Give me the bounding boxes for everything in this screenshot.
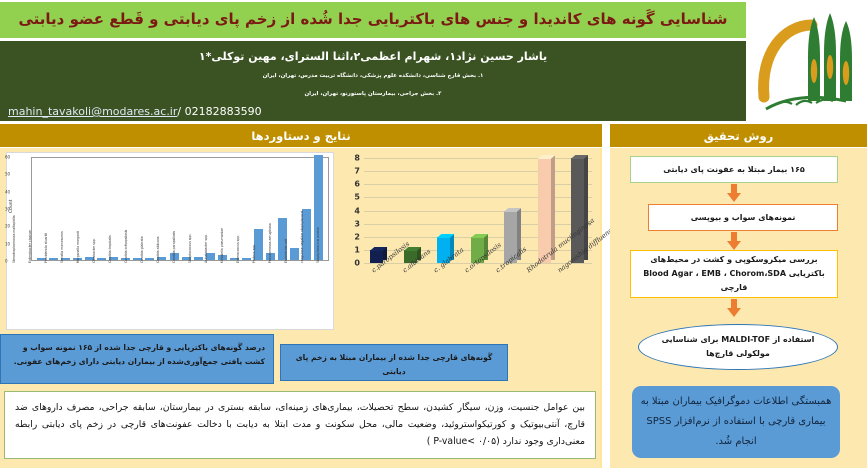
chart1-x-tick-labels: Staphylococcus aureuscoagulase negative …	[31, 263, 329, 329]
chart2-y-tick: 3	[354, 219, 360, 228]
flow-step-patients: ۱۶۵ بیمار مبتلا به عفونت پای دیابتی	[630, 156, 838, 183]
flow-step-culture: بررسی میکروسکوپی و کشت در محیط‌های باکتر…	[630, 250, 838, 298]
flow-arrow-down-2	[726, 232, 742, 250]
phone-number: / 02182883590	[177, 105, 261, 118]
affiliation-1: ۱. بخش قارچ شناسی، دانشکده علوم پزشکی، د…	[6, 73, 740, 79]
method-panel: ۱۶۵ بیمار مبتلا به عفونت پای دیابتی نمون…	[610, 148, 867, 468]
flow-step-samples: نمونه‌های سواب و بیوپسی	[648, 204, 838, 231]
author-band: یاشار حسین نژاد۱، شهرام اعظمی۲،اثنا الست…	[0, 41, 746, 121]
university-logo	[747, 2, 865, 120]
tarbiat-modares-logo-icon	[750, 5, 862, 117]
chart2-y-tick: 8	[354, 154, 360, 163]
chart2-x-tick-labels: c.paropsilosisc.albicansc. glabratac.ort…	[364, 266, 600, 334]
contact-line: mahin_tavakoli@modares.ac.ir/ 0218288359…	[8, 105, 262, 118]
chart2-y-tick: 1	[354, 245, 360, 254]
chart1-x-label: Naganishia diffluens	[0, 254, 15, 263]
chart2-y-tick: 5	[354, 193, 360, 202]
chart2-y-tick: 0	[354, 259, 360, 268]
poster-root: شناسایی گَونه های کاندیدا و جنس های باکت…	[0, 0, 867, 468]
email-link[interactable]: mahin_tavakoli@modares.ac.ir	[8, 105, 177, 118]
chart2-y-tick: 4	[354, 206, 360, 215]
chart2-column-face	[538, 158, 551, 263]
flow-arrow-down-1	[726, 184, 742, 202]
conclusion-paragraph: بین عوامل جنسیت، وزن، سیگار کشیدن، سطح ت…	[4, 391, 596, 459]
chart2-y-tick: 6	[354, 180, 360, 189]
caption-bacteria-chart: درصد گَونه‌های باکتریایی و قارچی جدا شده…	[0, 334, 274, 384]
affiliation-2: ۲. بخش جراحی، بیمارستان پاستورنو، تهران،…	[6, 91, 740, 97]
results-panel: Count 0102030405060 Staphylococcus aureu…	[0, 148, 602, 468]
bacteria-count-bar-chart: Count 0102030405060 Staphylococcus aureu…	[6, 152, 334, 330]
flow-step-spss-analysis: همبستگی اطلاعات دموگرافیک بیماران مبتلا …	[632, 386, 840, 458]
section-header-results: نتایج و دستاوردها	[0, 124, 602, 147]
section-header-results-label: نتایج و دستاوردها	[251, 129, 350, 143]
section-header-method-label: روش تحقیق	[704, 129, 774, 143]
section-header-method: روش تحقیق	[610, 124, 867, 147]
fungal-species-3d-chart: 012345678 c.paropsilosisc.albicansc. gla…	[338, 150, 600, 336]
author-list: یاشار حسین نژاد۱، شهرام اعظمی۲،اثنا الست…	[6, 50, 740, 63]
page-title: شناسایی گَونه های کاندیدا و جنس های باکت…	[18, 11, 727, 28]
caption-fungal-chart: گَونه‌های قارچی جدا شده از بیماران مبتلا…	[280, 344, 508, 381]
poster-title-band: شناسایی گَونه های کاندیدا و جنس های باکت…	[0, 2, 746, 38]
flow-step-maldi-tof: استفاده از MALDI-TOF برای شناسایی مولکول…	[638, 324, 838, 370]
chart2-y-tick: 2	[354, 232, 360, 241]
flow-arrow-down-3	[726, 299, 742, 317]
chart2-y-tick: 7	[354, 167, 360, 176]
